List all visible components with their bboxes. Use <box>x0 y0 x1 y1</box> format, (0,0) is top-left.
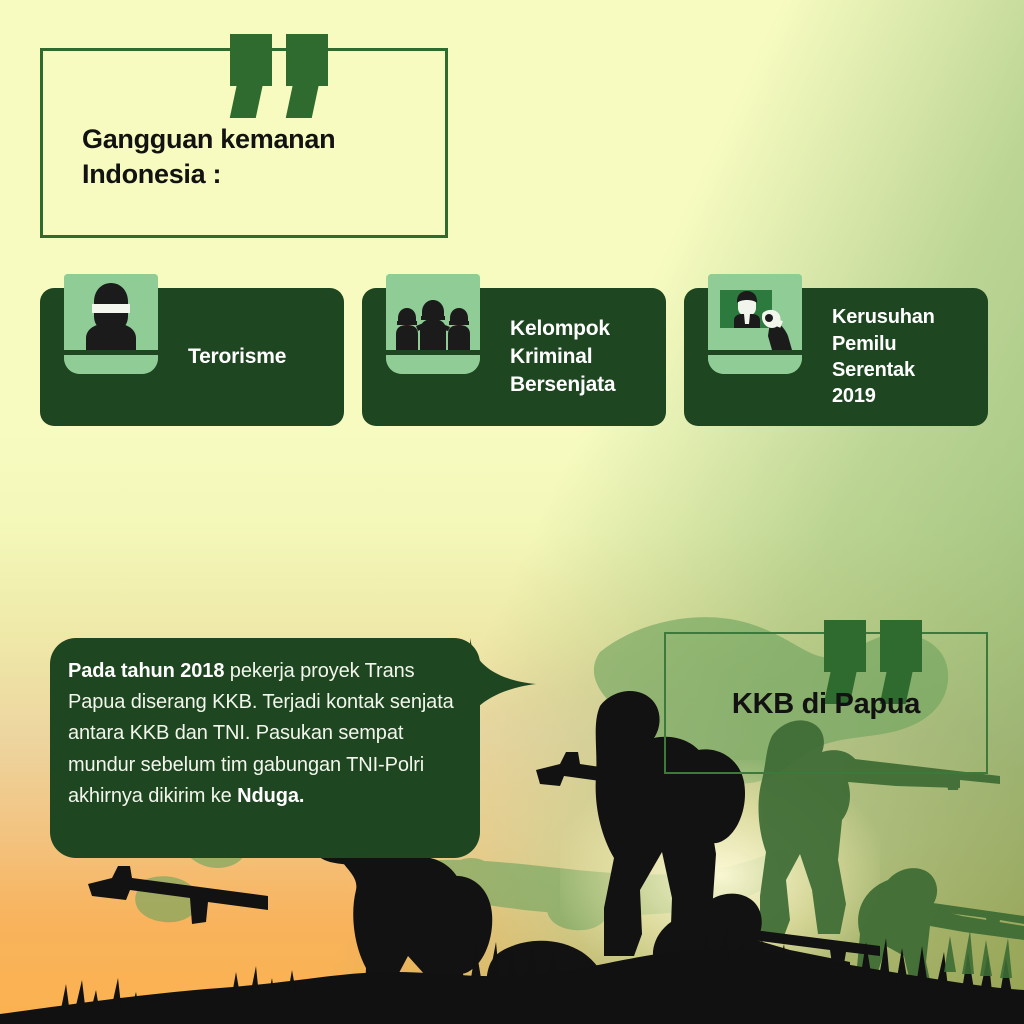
papua-title: KKB di Papua <box>664 688 988 721</box>
threat-card-kkb[interactable]: Kelompok Kriminal Bersenjata <box>362 288 666 426</box>
story-emphasis: Nduga. <box>237 785 304 807</box>
threat-card-terorisme[interactable]: Terorisme <box>40 288 344 426</box>
quote-marks-icon <box>230 34 330 118</box>
threat-card-label: Kerusuhan Pemilu Serentak 2019 <box>832 288 982 426</box>
election-ballot-icon <box>708 274 802 374</box>
page-title: Gangguan kemanan Indonesia : <box>82 122 442 191</box>
story-text: Pada tahun 2018 pekerja proyek Trans Pap… <box>68 656 468 812</box>
infographic-canvas: Gangguan kemanan Indonesia : Terorisme <box>0 0 1024 1024</box>
story-lead: Pada tahun 2018 <box>68 660 224 682</box>
threat-card-label: Terorisme <box>188 288 338 426</box>
armed-criminal-group-icon <box>386 274 480 374</box>
speech-bubble-tail <box>470 638 546 714</box>
masked-terrorist-icon <box>64 274 158 374</box>
threat-card-label: Kelompok Kriminal Bersenjata <box>510 288 660 426</box>
threat-card-pemilu[interactable]: Kerusuhan Pemilu Serentak 2019 <box>684 288 988 426</box>
